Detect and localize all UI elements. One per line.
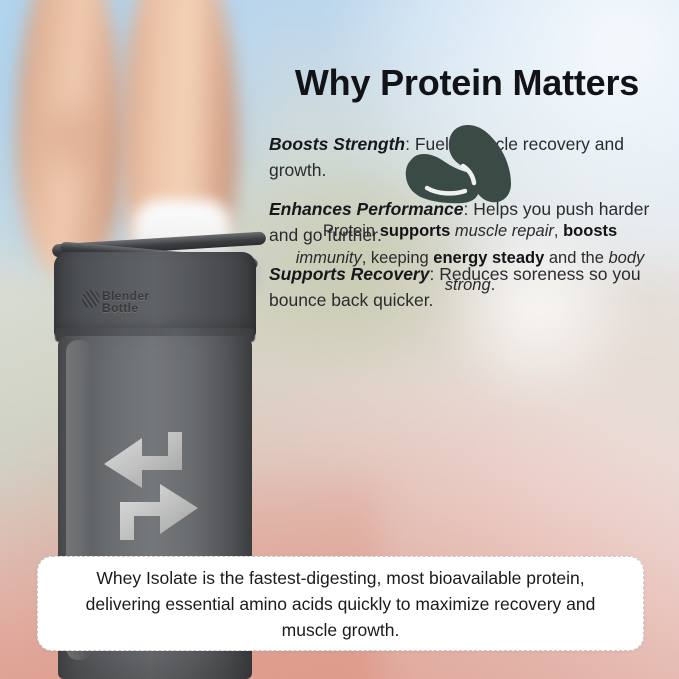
summary-part: , [554, 222, 563, 240]
summary-part: and the [544, 249, 608, 267]
blenderbottle-mark-icon [82, 290, 100, 308]
page-title: Why Protein Matters [267, 62, 667, 104]
summary-part: Protein [323, 222, 380, 240]
knee-shading [38, 95, 116, 191]
summary-part: . [491, 276, 496, 294]
brand-line-2: Bottle [102, 302, 149, 314]
summary-italic: immunity [296, 249, 362, 267]
callout-card-text: Whey Isolate is the fastest-digesting, m… [61, 565, 621, 643]
summary-paragraph: Protein supports muscle repair, boosts i… [295, 218, 645, 299]
summary-bold: boosts [563, 222, 617, 240]
content-column: Why Protein Matters Boosts Strength: Fue… [255, 0, 679, 545]
callout-card: Whey Isolate is the fastest-digesting, m… [37, 556, 644, 651]
bottle-brand-text: Blender Bottle [102, 290, 149, 314]
benefit-lead: Boosts Strength [269, 134, 405, 154]
summary-italic: muscle repair [450, 222, 554, 240]
flexed-bicep-icon [405, 122, 513, 208]
summary-part: , keeping [362, 249, 434, 267]
blenderbottle-arrows-logo [96, 426, 206, 546]
poster-canvas: Blender Bottle Bottle Why Protein Matter… [0, 0, 679, 679]
summary-bold: energy steady [433, 249, 544, 267]
summary-bold: supports [380, 222, 451, 240]
